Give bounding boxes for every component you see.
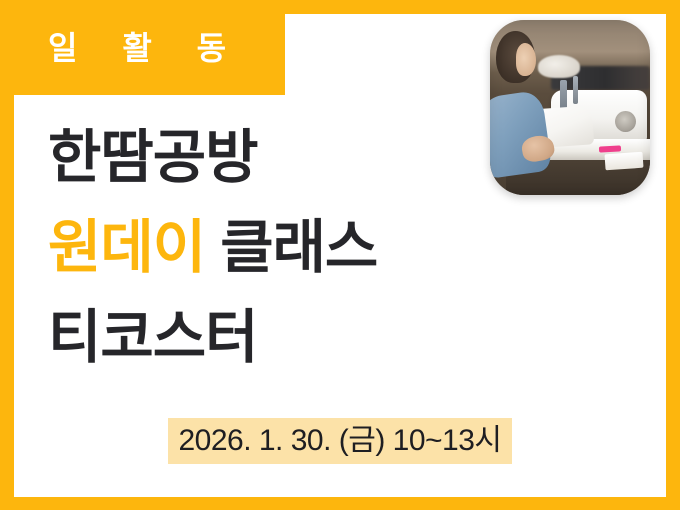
headline-accent-text: 원데이 (48, 215, 205, 280)
headline-line-1-text: 한땀공방 (48, 125, 257, 190)
headline-line-3-text: 티코스터 (48, 305, 257, 370)
headline-line-2: 원데이 클래스 (48, 203, 608, 293)
photo-paper-note (605, 152, 644, 170)
photo-thread-guide (573, 76, 578, 104)
promo-poster: 일 활 동 한땀공방 원데이 클래스 (0, 0, 680, 510)
category-badge: 일 활 동 (0, 0, 285, 95)
category-badge-label: 일 활 동 (48, 32, 244, 64)
schedule-row: 2026. 1. 30. (금) 10~13시 (0, 418, 680, 464)
frame-border-bottom (0, 497, 680, 510)
headline-line-3: 티코스터 (48, 293, 608, 383)
photo-bag (538, 55, 580, 78)
schedule-highlight: 2026. 1. 30. (금) 10~13시 (168, 418, 511, 464)
headline-line-1: 한땀공방 (48, 113, 608, 203)
photo-hand-wheel (615, 111, 636, 132)
headline-line-2-rest: 클래스 (205, 215, 377, 280)
poster-headline: 한땀공방 원데이 클래스 티코스터 (48, 113, 608, 383)
